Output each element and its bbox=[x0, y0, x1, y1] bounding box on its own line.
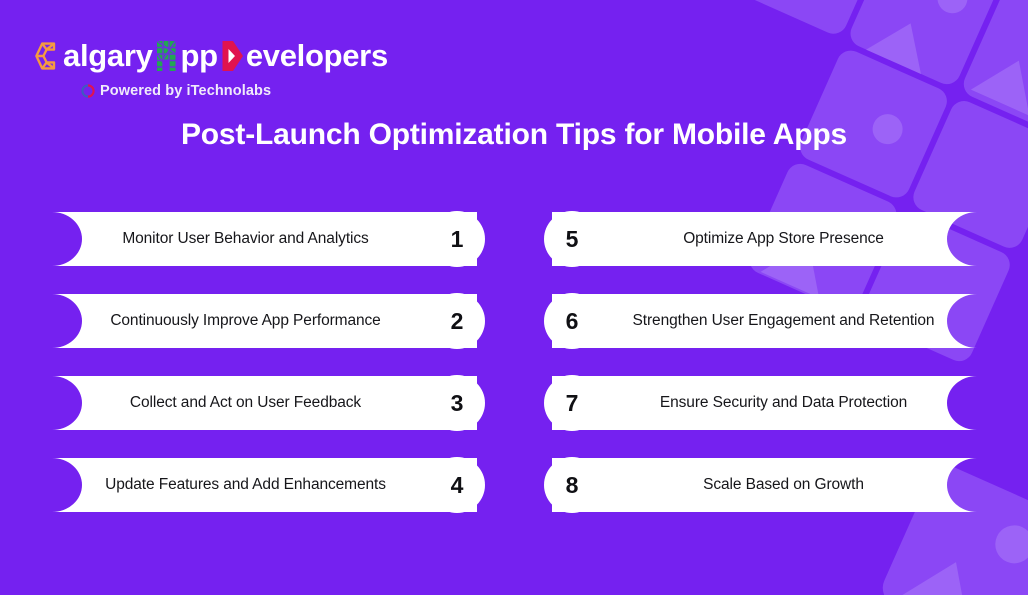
logo-word-algary: algary bbox=[63, 40, 153, 71]
tip-label: Optimize App Store Presence bbox=[552, 230, 977, 248]
tip-number-badge: 7 bbox=[544, 375, 600, 431]
tip-label: Continuously Improve App Performance bbox=[52, 312, 477, 330]
tip-item-8[interactable]: Scale Based on Growth 8 bbox=[552, 458, 977, 512]
brand-logo[interactable]: algary pp bbox=[33, 36, 453, 99]
infographic-canvas: algary pp bbox=[0, 0, 1028, 595]
logo-word-evelopers: evelopers bbox=[246, 40, 388, 71]
tip-number-badge: 2 bbox=[429, 293, 485, 349]
tip-number-badge: 5 bbox=[544, 211, 600, 267]
tip-item-6[interactable]: Strengthen User Engagement and Retention… bbox=[552, 294, 977, 348]
logo-d-icon bbox=[219, 39, 245, 73]
tip-label: Scale Based on Growth bbox=[552, 476, 977, 494]
tip-label: Monitor User Behavior and Analytics bbox=[52, 230, 477, 248]
logo-wordmark: algary pp bbox=[33, 36, 453, 76]
tip-number-badge: 8 bbox=[544, 457, 600, 513]
tip-label: Strengthen User Engagement and Retention bbox=[552, 312, 977, 330]
tip-label: Update Features and Add Enhancements bbox=[52, 476, 477, 494]
tips-grid: Monitor User Behavior and Analytics 1 Op… bbox=[52, 212, 977, 512]
logo-word-pp: pp bbox=[181, 40, 218, 71]
tip-label: Ensure Security and Data Protection bbox=[552, 394, 977, 412]
tip-item-7[interactable]: Ensure Security and Data Protection 7 bbox=[552, 376, 977, 430]
tip-item-5[interactable]: Optimize App Store Presence 5 bbox=[552, 212, 977, 266]
itechnolabs-ring-icon bbox=[81, 84, 100, 98]
tip-number-badge: 1 bbox=[429, 211, 485, 267]
tip-number-badge: 4 bbox=[429, 457, 485, 513]
logo-c-icon bbox=[34, 39, 62, 73]
page-title: Post-Launch Optimization Tips for Mobile… bbox=[0, 118, 1028, 152]
tip-item-1[interactable]: Monitor User Behavior and Analytics 1 bbox=[52, 212, 477, 266]
tagline-text: Powered by iTechnolabs bbox=[100, 83, 271, 99]
logo-tagline: Powered by iTechnolabs bbox=[81, 83, 453, 99]
logo-a-icon bbox=[154, 39, 180, 73]
tip-label: Collect and Act on User Feedback bbox=[52, 394, 477, 412]
tip-number-badge: 6 bbox=[544, 293, 600, 349]
tip-item-3[interactable]: Collect and Act on User Feedback 3 bbox=[52, 376, 477, 430]
tip-number-badge: 3 bbox=[429, 375, 485, 431]
tip-item-4[interactable]: Update Features and Add Enhancements 4 bbox=[52, 458, 477, 512]
tip-item-2[interactable]: Continuously Improve App Performance 2 bbox=[52, 294, 477, 348]
